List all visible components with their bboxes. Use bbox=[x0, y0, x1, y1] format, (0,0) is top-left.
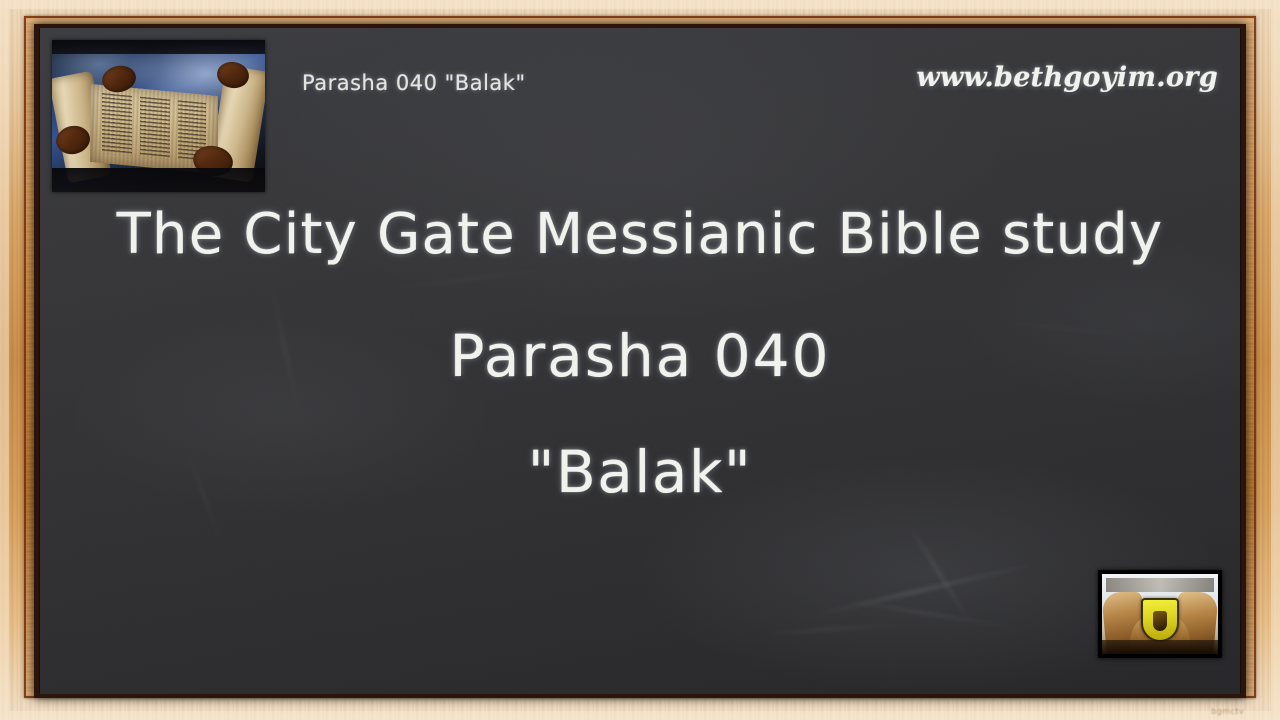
chalkboard-surface: Parasha 040 "Balak" www.bethgoyim.org Th… bbox=[40, 28, 1240, 694]
parasha-header-label: Parasha 040 "Balak" bbox=[302, 71, 526, 95]
parasha-number-subtitle: Parasha 040 bbox=[40, 322, 1240, 390]
logo-shield-crest bbox=[1141, 598, 1179, 642]
scroll-top-shadow bbox=[52, 40, 265, 54]
chalk-smudge bbox=[760, 623, 910, 635]
site-url-label: www.bethgoyim.org bbox=[916, 62, 1218, 93]
logo-shield-emblem bbox=[1153, 611, 1167, 631]
parasha-name-subtitle: "Balak" bbox=[40, 438, 1240, 506]
logo-artwork bbox=[1102, 574, 1218, 654]
city-gate-shield-logo bbox=[1098, 570, 1222, 658]
scroll-text-column bbox=[140, 97, 170, 160]
scroll-bottom-shadow bbox=[52, 168, 265, 192]
chalk-smudge bbox=[841, 599, 1019, 629]
logo-ground-shadow bbox=[1102, 640, 1218, 654]
chalk-smudge bbox=[371, 266, 570, 292]
frame-watermark-text: bgmctv bbox=[1211, 707, 1244, 716]
chalk-smudge bbox=[813, 562, 1038, 617]
logo-banner-strip bbox=[1106, 578, 1214, 592]
page-title: The City Gate Messianic Bible study bbox=[40, 202, 1240, 267]
chalk-smudge bbox=[907, 523, 973, 626]
torah-scroll-icon bbox=[52, 40, 265, 192]
wooden-picture-frame: bgmctv Parasha 0 bbox=[0, 0, 1280, 720]
scroll-text-column bbox=[102, 93, 132, 156]
